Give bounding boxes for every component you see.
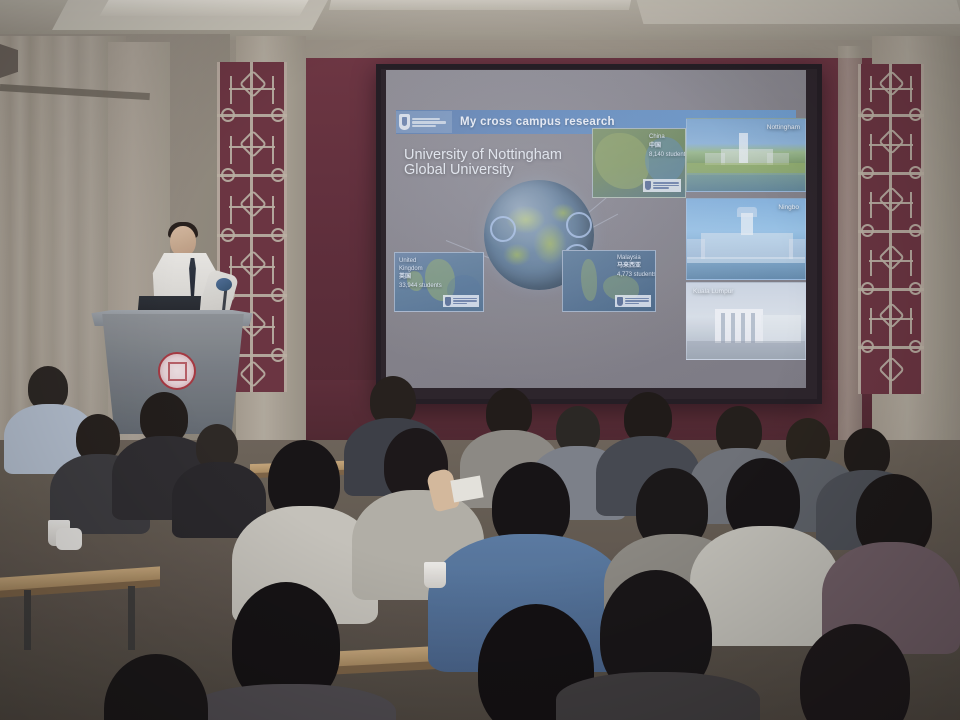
- shield-crest-icon: [399, 114, 410, 130]
- ceiling-light: [329, 0, 631, 10]
- map-inset-united-kingdom: United Kingdom 英国 33,944 students: [394, 252, 484, 312]
- inset-uk-country: United: [399, 258, 416, 266]
- inset-malaysia-students: 4,773 students: [617, 272, 656, 280]
- ceiling-light: [99, 0, 308, 16]
- desk-leg: [128, 586, 135, 650]
- inset-malaysia-country-zh: 马来西亚: [617, 263, 641, 271]
- university-of-nottingham-logo: [396, 111, 452, 133]
- campus-photo-label-nottingham: Nottingham: [767, 124, 800, 131]
- slide-header-title: My cross campus research: [460, 116, 615, 128]
- map-inset-malaysia: Malaysia 马来西亚 4,773 students: [562, 250, 656, 312]
- ceiling-panel: [637, 0, 960, 24]
- university-seal-emblem: [158, 352, 196, 390]
- inset-china-students: 8,140 students: [649, 152, 686, 160]
- slide-title: University of Nottingham Global Universi…: [404, 148, 562, 178]
- inset-china-country: China: [649, 134, 665, 142]
- inset-malaysia-logo: [615, 295, 651, 307]
- inset-uk-logo: [443, 295, 479, 307]
- lecture-hall-photo: My cross campus research University of N…: [0, 0, 960, 720]
- nottingham-wordmark: [653, 182, 679, 189]
- inset-malaysia-country: Malaysia: [617, 255, 641, 263]
- inset-uk-country2: Kingdom: [399, 266, 423, 274]
- decorative-lattice-panel-right: [858, 64, 924, 394]
- campus-photo-kuala-lumpur: Kuala Lumpur: [686, 282, 806, 360]
- slide-title-line2: Global University: [404, 163, 562, 178]
- audience-member-shoulders: [556, 672, 760, 720]
- nottingham-wordmark: [625, 298, 649, 305]
- audience-member-shoulders: [690, 526, 840, 646]
- map-inset-china: China 中国 8,140 students: [592, 128, 686, 198]
- inset-uk-students: 33,944 students: [399, 283, 442, 291]
- paper-cup: [424, 562, 446, 588]
- shield-crest-icon: [617, 297, 623, 306]
- shield-crest-icon: [445, 297, 451, 306]
- campus-photo-nottingham: Nottingham: [686, 118, 806, 192]
- campus-photo-label-ningbo: Ningbo: [778, 204, 799, 211]
- face-mask: [56, 528, 82, 550]
- globe-marker-china: [566, 212, 592, 238]
- inset-china-logo: [643, 179, 681, 192]
- globe-marker-uk: [490, 216, 516, 242]
- desk-leg: [24, 590, 31, 650]
- inset-uk-country-zh: 英国: [399, 274, 411, 282]
- microphone-icon: [216, 278, 232, 291]
- projection-screen: My cross campus research University of N…: [386, 70, 806, 388]
- campus-photo-label-kuala-lumpur: Kuala Lumpur: [693, 288, 733, 295]
- inset-china-country-zh: 中国: [649, 143, 661, 151]
- slide-title-line1: University of Nottingham: [404, 148, 562, 163]
- campus-photo-ningbo: Ningbo: [686, 198, 806, 280]
- nottingham-wordmark: [412, 118, 446, 127]
- presenter-head: [170, 226, 196, 257]
- shield-crest-icon: [645, 181, 651, 190]
- nottingham-wordmark: [453, 298, 477, 305]
